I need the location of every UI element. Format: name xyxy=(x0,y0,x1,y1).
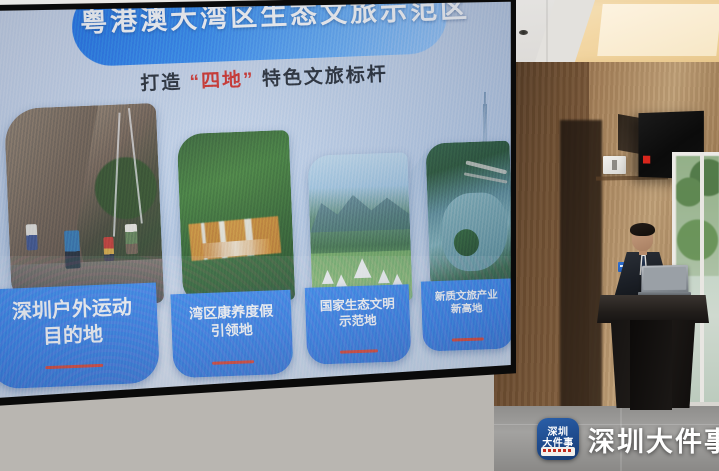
podium-top xyxy=(597,295,709,323)
watermark-logo-icon: 深圳 大件事 xyxy=(537,418,579,460)
slide-photo-card xyxy=(177,130,295,304)
photo-glamping-tents xyxy=(307,152,412,303)
photo-mountain-resort xyxy=(177,130,295,304)
slide-caption: 国家生态文明 示范地 xyxy=(305,284,412,365)
slide-caption: 新质文旅产业 新高地 xyxy=(421,278,513,351)
ceiling-cove-light-inner xyxy=(597,4,719,56)
outdoor-foliage xyxy=(676,156,719,276)
climber-figure xyxy=(124,224,137,254)
climber-figure xyxy=(104,237,115,261)
climber-figure xyxy=(25,224,37,250)
laptop-screen xyxy=(643,267,686,290)
presentation-screen: 粤港澳大湾区生态文旅示范区 打造 “四地” 特色文旅标杆 xyxy=(0,0,516,406)
mountain-road xyxy=(464,172,507,183)
caption-underline xyxy=(452,337,484,341)
wall-placard xyxy=(603,156,626,174)
watermark: 深圳 大件事 深圳大件事 xyxy=(537,418,719,460)
caption-line-2: 新高地 xyxy=(422,302,512,319)
caption-underline xyxy=(212,360,254,365)
slide-subtitle-prefix: 打造 xyxy=(140,72,183,95)
climbing-rope xyxy=(128,108,142,223)
slide-subtitle-suffix: 特色文旅标杆 xyxy=(261,64,388,90)
screenshot-root: 粤港澳大湾区生态文旅示范区 打造 “四地” 特色文旅标杆 xyxy=(0,0,719,471)
slide-photo-card xyxy=(307,152,412,303)
wall-shadow-strip xyxy=(560,120,602,420)
slide-subtitle-highlight: “四地” xyxy=(189,69,255,92)
slide-photo-card xyxy=(425,141,514,294)
mountain-range xyxy=(308,179,410,233)
window-mullion xyxy=(700,152,704,410)
ceiling-seam xyxy=(546,0,548,64)
slide-photo-card xyxy=(4,103,164,309)
presenter-hair xyxy=(630,223,655,236)
caption-underline xyxy=(45,364,103,369)
downlight-icon xyxy=(519,30,528,35)
laptop xyxy=(641,265,688,295)
slide-caption: 深圳户外运动 目的地 xyxy=(0,282,160,389)
photo-aerial-reservoir xyxy=(425,141,514,294)
slide-caption: 湾区康养度假 引领地 xyxy=(170,290,293,379)
caption-underline xyxy=(340,349,378,353)
climbing-rope xyxy=(113,113,120,237)
podium-column xyxy=(630,320,672,410)
watermark-logo-strip xyxy=(541,447,575,456)
photo-rock-climbing xyxy=(4,103,164,309)
watermark-text: 深圳大件事 xyxy=(588,420,719,459)
speaker-brand-badge xyxy=(643,156,650,164)
climber-figure xyxy=(64,230,81,269)
mountain-road xyxy=(465,160,507,174)
speaker-mount-bracket xyxy=(618,114,640,154)
